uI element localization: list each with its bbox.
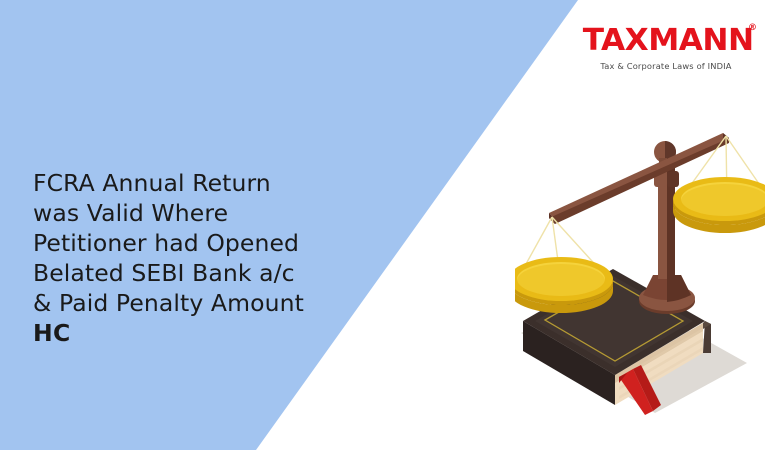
headline-line-6-court-tag: HC: [33, 318, 383, 348]
headline-block: FCRA Annual Return was Valid Where Petit…: [33, 168, 383, 348]
scales-of-justice-icon: [515, 105, 765, 425]
registered-trademark-icon: ®: [748, 24, 757, 33]
taxmann-logo: TAXMANN ® Tax & Corporate Laws of INDIA: [586, 26, 746, 71]
headline-line-4: Belated SEBI Bank a/c: [33, 258, 383, 288]
left-scale-pan-icon: [515, 217, 613, 313]
headline-line-1: FCRA Annual Return: [33, 168, 383, 198]
headline-line-5: & Paid Penalty Amount: [33, 288, 383, 318]
news-card: TAXMANN ® Tax & Corporate Laws of INDIA …: [0, 0, 768, 450]
headline-line-2: was Valid Where: [33, 198, 383, 228]
logo-wordmark: TAXMANN: [583, 26, 754, 56]
headline-line-3: Petitioner had Opened: [33, 228, 383, 258]
logo-tagline: Tax & Corporate Laws of INDIA: [586, 61, 746, 71]
